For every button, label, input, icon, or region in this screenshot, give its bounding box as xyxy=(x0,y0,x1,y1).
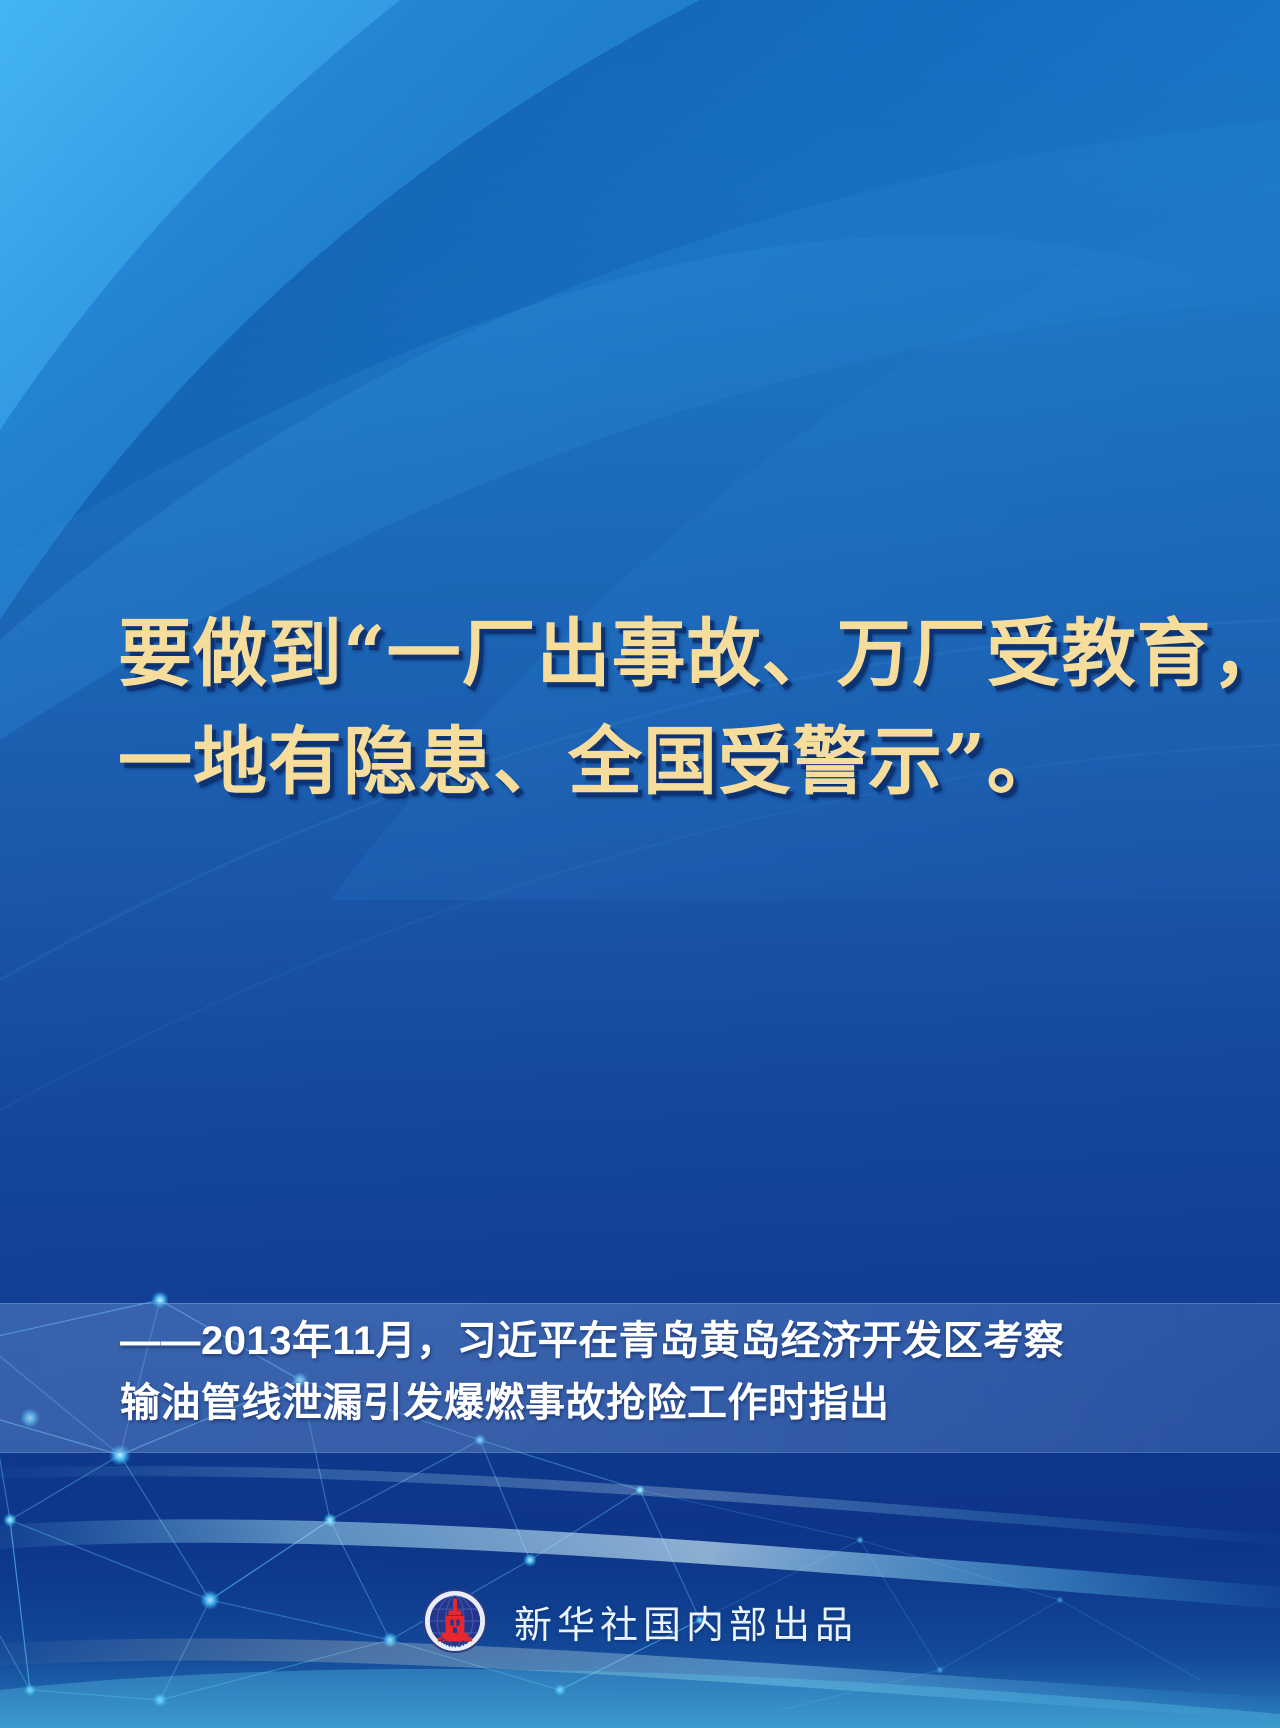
footer-text: 新华社国内部出品 xyxy=(514,1594,858,1649)
footer: XINHUA 新华社国内部出品 xyxy=(0,1588,1280,1654)
caption-block: ——2013年11月，习近平在青岛黄岛经济开发区考察 输油管线泄漏引发爆燃事故抢… xyxy=(0,1310,1280,1434)
caption-line-2: 输油管线泄漏引发爆燃事故抢险工作时指出 xyxy=(120,1372,1230,1434)
quote-line-1: 要做到“一厂出事故、万厂受教育， xyxy=(118,600,1220,708)
xinhua-logo: XINHUA xyxy=(422,1588,488,1654)
background-decoration xyxy=(0,0,1280,1728)
quote-block: 要做到“一厂出事故、万厂受教育， 一地有隐患、全国受警示”。 xyxy=(0,600,1280,816)
poster-root: 要做到“一厂出事故、万厂受教育， 一地有隐患、全国受警示”。 ——2013年11… xyxy=(0,0,1280,1728)
quote-line-2: 一地有隐患、全国受警示”。 xyxy=(118,708,1220,816)
caption-line-1: ——2013年11月，习近平在青岛黄岛经济开发区考察 xyxy=(120,1310,1230,1372)
